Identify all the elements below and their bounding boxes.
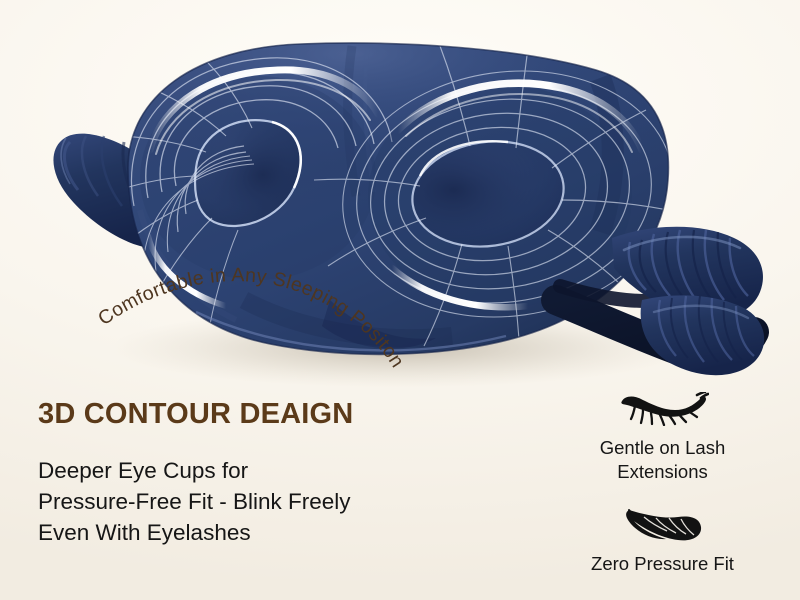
feature-item-pressure: Zero Pressure Fit bbox=[545, 504, 780, 576]
product-image-sleep-mask bbox=[0, 0, 800, 395]
feature-label-lash-line-1: Gentle on Lash bbox=[600, 436, 725, 460]
subheadline: Deeper Eye Cups for Pressure-Free Fit - … bbox=[38, 455, 508, 548]
product-feature-graphic: Comfortable in Any Sleeping Positon 3D C… bbox=[0, 0, 800, 600]
subheadline-line-2: Pressure-Free Fit - Blink Freely bbox=[38, 486, 508, 517]
feature-label-pressure-line-1: Zero Pressure Fit bbox=[591, 552, 734, 576]
feature-label-lash: Gentle on Lash Extensions bbox=[600, 436, 725, 484]
subheadline-line-3: Even With Eyelashes bbox=[38, 517, 508, 548]
subheadline-line-1: Deeper Eye Cups for bbox=[38, 455, 508, 486]
feature-item-lash: Gentle on Lash Extensions bbox=[545, 388, 780, 484]
feature-label-lash-line-2: Extensions bbox=[600, 460, 725, 484]
feather-icon bbox=[620, 504, 706, 546]
page-title: 3D CONTOUR DEAIGN bbox=[38, 398, 508, 430]
left-copy-block: 3D CONTOUR DEAIGN Deeper Eye Cups for Pr… bbox=[38, 398, 508, 548]
closed-eye-lashes-icon bbox=[617, 388, 709, 430]
feature-list: Gentle on Lash Extensions bbox=[545, 388, 780, 576]
feature-label-pressure: Zero Pressure Fit bbox=[591, 552, 734, 576]
